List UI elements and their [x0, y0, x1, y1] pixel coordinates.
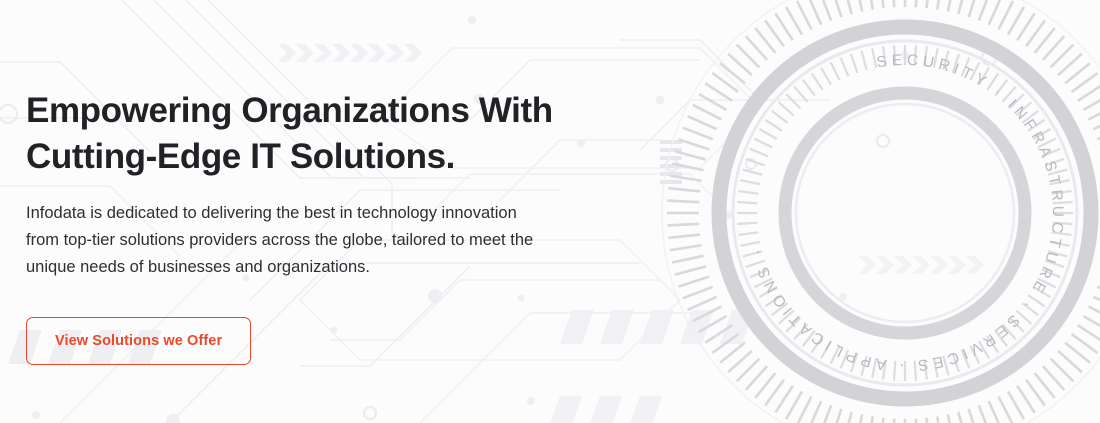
view-solutions-button[interactable]: View Solutions we Offer — [26, 317, 251, 365]
hero-content: Empowering Organizations With Cutting-Ed… — [26, 88, 556, 365]
diagonal-stripe-group-mid — [560, 310, 754, 344]
ring-text-path: SECURITY · INFRASTRUCTURE · SERVICES · A… — [748, 52, 1066, 374]
chevron-arrow-group-top — [278, 44, 422, 62]
cta-container: View Solutions we Offer — [26, 317, 556, 365]
ring-outline-inner — [796, 104, 1014, 322]
ring-band-inner — [785, 93, 1025, 333]
ring-ticks-outer — [667, 0, 1100, 423]
tech-ring-emblem: SECURITY · INFRASTRUCTURE · SERVICES · A… — [660, 0, 1100, 423]
diagonal-stripe-group-bottom — [548, 396, 662, 423]
page-title: Empowering Organizations With Cutting-Ed… — [26, 88, 556, 180]
ring-outline-mid — [733, 41, 1077, 385]
barcode-block-left — [660, 140, 682, 184]
ring-outline-outer — [662, 0, 1100, 423]
hero-section: SECURITY · INFRASTRUCTURE · SERVICES · A… — [0, 0, 1100, 423]
ring-keyword-text: SECURITY · INFRASTRUCTURE · SERVICES · A… — [748, 52, 1066, 374]
ring-band-thick — [719, 27, 1091, 399]
ring-ticks-inner — [737, 45, 1073, 381]
hero-description: Infodata is dedicated to delivering the … — [26, 200, 536, 280]
chevron-arrow-group-center — [858, 256, 984, 274]
